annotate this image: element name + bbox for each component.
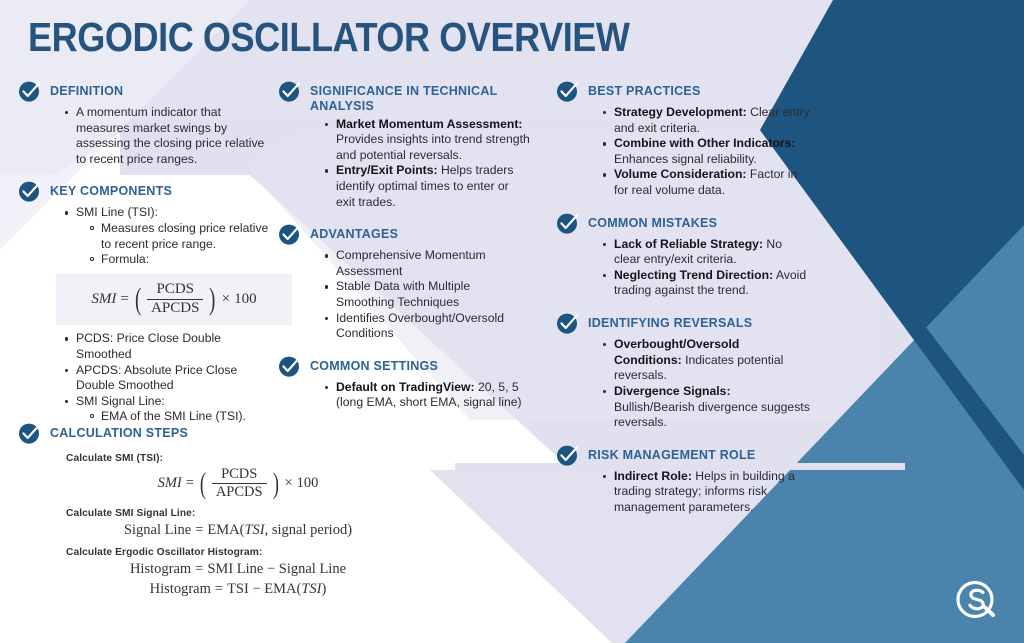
formula-rhs: SMI Line − Signal Line (207, 561, 346, 578)
formula-rhs: EMA(TSI, signal period) (207, 522, 352, 539)
formula-rhs: TSI − EMA(TSI) (227, 581, 326, 598)
list-item: Overbought/Oversold Conditions: Indicate… (603, 337, 810, 384)
list-item: Strategy Development: Clear entry and ex… (603, 105, 810, 136)
formula-fraction: PCDSAPCDS (212, 467, 267, 500)
formula-lhs: Histogram (130, 561, 191, 578)
section-header: RISK MANAGEMENT ROLE (556, 446, 810, 467)
list-item-text: SMI Signal Line: (76, 394, 165, 408)
check-circle-icon (556, 79, 580, 103)
section-header: BEST PRACTICES (556, 82, 810, 103)
list-item: Entry/Exit Points: Helps traders identif… (325, 163, 530, 210)
sub-list-item: EMA of the SMI Line (TSI). (90, 409, 276, 425)
content-block: COMMON SETTINGSDefault on TradingView: 2… (278, 357, 530, 411)
section-body: Overbought/Oversold Conditions: Indicate… (588, 337, 810, 431)
column-middle: SIGNIFICANCE IN TECHNICAL ANALYSISMarket… (278, 82, 530, 411)
section-body: Market Momentum Assessment: Provides ins… (310, 117, 530, 211)
paren-close: ) (209, 290, 215, 309)
list-item: Divergence Signals: Bullish/Bearish dive… (603, 384, 810, 431)
column-left: DEFINITIONA momentum indicator that meas… (18, 82, 276, 425)
list-item-text: A momentum indicator that measures marke… (76, 105, 264, 166)
list-item: APCDS: Absolute Price Close Double Smoot… (65, 363, 276, 394)
sub-list-item: Measures closing price relative to recen… (90, 221, 276, 252)
formula-equals: = (195, 522, 203, 539)
calc-step-formula: Histogram=TSI − EMA(TSI) (18, 581, 458, 598)
sq-monogram-logo (952, 577, 1002, 627)
formula-equals: = (195, 561, 203, 578)
list-item-lead: Divergence Signals: (614, 384, 731, 398)
list-item-lead: Volume Consideration: (614, 167, 747, 181)
formula-factor: 100 (234, 291, 257, 308)
list-item: Neglecting Trend Direction: Avoid tradin… (603, 268, 810, 299)
paren-close: ) (272, 475, 278, 493)
section-title: CALCULATION STEPS (50, 424, 188, 441)
section-title: DEFINITION (50, 82, 123, 99)
list-item-text: Provides insights into trend strength an… (336, 132, 530, 162)
formula-smi: SMI=(PCDSAPCDS)×100 (18, 467, 458, 500)
section-body: Default on TradingView: 20, 5, 5 (long E… (310, 380, 530, 411)
bullet-list: A momentum indicator that measures marke… (50, 105, 276, 167)
formula-lhs: SMI (91, 291, 116, 308)
list-item-text: Enhances signal reliability. (614, 152, 757, 166)
bullet-list: Default on TradingView: 20, 5, 5 (long E… (310, 380, 530, 411)
list-item-lead: Lack of Reliable Strategy: (614, 237, 763, 251)
section-header: CALCULATION STEPS (18, 424, 458, 445)
check-circle-icon (556, 211, 580, 235)
check-circle-icon (278, 79, 302, 103)
calc-step-formula: Histogram=SMI Line − Signal Line (18, 561, 458, 578)
list-item: Combine with Other Indicators: Enhances … (603, 136, 810, 167)
calc-step-label: Calculate SMI Signal Line: (66, 508, 458, 519)
bullet-list: SMI Line (TSI):Measures closing price re… (50, 205, 276, 267)
section-title: ADVANTAGES (310, 225, 398, 242)
bullet-list: Market Momentum Assessment: Provides ins… (310, 117, 530, 211)
infographic-poster: ERGODIC OSCILLATOR OVERVIEW DEFINITIONA … (0, 0, 1024, 643)
list-item: Volume Consideration: Factor in for real… (603, 167, 810, 198)
content-block: RISK MANAGEMENT ROLEIndirect Role: Helps… (556, 446, 810, 516)
content-block: SIGNIFICANCE IN TECHNICAL ANALYSISMarket… (278, 82, 530, 210)
section-title: COMMON MISTAKES (588, 214, 717, 231)
list-item: Market Momentum Assessment: Provides ins… (325, 117, 530, 164)
check-circle-icon (18, 79, 42, 103)
check-circle-icon (18, 421, 42, 445)
fraction-denominator: APCDS (212, 483, 267, 500)
formula-lhs: Signal Line (124, 522, 191, 539)
formula-equals: = (186, 475, 194, 492)
sub-list: Measures closing price relative to recen… (76, 221, 276, 268)
fraction-denominator: APCDS (147, 299, 203, 317)
bullet-list: Strategy Development: Clear entry and ex… (588, 105, 810, 199)
bullet-list: Comprehensive Momentum AssessmentStable … (310, 248, 530, 342)
calc-step-label: Calculate Ergodic Oscillator Histogram: (66, 547, 458, 558)
section-header: KEY COMPONENTS (18, 182, 276, 203)
fraction-numerator: PCDS (217, 467, 261, 483)
sub-list-item: Formula: (90, 252, 276, 268)
content-block: IDENTIFYING REVERSALSOverbought/Oversold… (556, 314, 810, 431)
list-item: Identifies Overbought/Oversold Condition… (325, 311, 530, 342)
page-title: ERGODIC OSCILLATOR OVERVIEW (28, 14, 630, 61)
section-title: COMMON SETTINGS (310, 357, 438, 374)
calc-step-formula: Signal Line=EMA(TSI, signal period) (18, 522, 458, 539)
section-body: Indirect Role: Helps in building a tradi… (588, 469, 810, 516)
content-block: KEY COMPONENTSSMI Line (TSI):Measures cl… (18, 182, 276, 425)
list-item-text: PCDS: Price Close Double Smoothed (76, 331, 221, 361)
list-item-text: Comprehensive Momentum Assessment (336, 248, 486, 278)
list-item: SMI Signal Line:EMA of the SMI Line (TSI… (65, 394, 276, 425)
list-item-lead: Strategy Development: (614, 105, 747, 119)
formula-fraction: PCDSAPCDS (147, 282, 203, 317)
section-title: RISK MANAGEMENT ROLE (588, 446, 756, 463)
list-item-text: Stable Data with Multiple Smoothing Tech… (336, 279, 470, 309)
bullet-list: Lack of Reliable Strategy: No clear entr… (588, 237, 810, 299)
paren-open: ( (200, 475, 206, 493)
check-circle-icon (278, 354, 302, 378)
bullet-list: PCDS: Price Close Double SmoothedAPCDS: … (50, 331, 276, 425)
content-block: ADVANTAGESComprehensive Momentum Assessm… (278, 225, 530, 342)
fraction-numerator: PCDS (152, 282, 198, 299)
section-title: BEST PRACTICES (588, 82, 701, 99)
bullet-list: Indirect Role: Helps in building a tradi… (588, 469, 810, 516)
section-body: Lack of Reliable Strategy: No clear entr… (588, 237, 810, 299)
list-item: SMI Line (TSI):Measures closing price re… (65, 205, 276, 267)
formula-smi: SMI=(PCDSAPCDS)×100 (62, 282, 286, 317)
section-body: Strategy Development: Clear entry and ex… (588, 105, 810, 199)
list-item: Stable Data with Multiple Smoothing Tech… (325, 279, 530, 310)
list-item-lead: Indirect Role: (614, 469, 692, 483)
list-item-lead: Market Momentum Assessment: (336, 117, 522, 131)
content-block: BEST PRACTICESStrategy Development: Clea… (556, 82, 810, 199)
list-item: Comprehensive Momentum Assessment (325, 248, 530, 279)
list-item-lead: Combine with Other Indicators: (614, 136, 795, 150)
section-header: COMMON MISTAKES (556, 214, 810, 235)
check-circle-icon (556, 311, 580, 335)
list-item-lead: Neglecting Trend Direction: (614, 268, 773, 282)
section-header: ADVANTAGES (278, 225, 530, 246)
list-item-text: SMI Line (TSI): (76, 205, 158, 219)
section-title: KEY COMPONENTS (50, 182, 172, 199)
content-block: DEFINITIONA momentum indicator that meas… (18, 82, 276, 167)
check-circle-icon (278, 222, 302, 246)
calculation-body: Calculate SMI (TSI):SMI=(PCDSAPCDS)×100C… (18, 453, 458, 598)
formula-lhs: Histogram (150, 581, 211, 598)
check-circle-icon (18, 179, 42, 203)
paren-open: ( (135, 290, 141, 309)
formula-equals: = (120, 291, 128, 308)
column-right: BEST PRACTICESStrategy Development: Clea… (556, 82, 810, 516)
section-body: Comprehensive Momentum AssessmentStable … (310, 248, 530, 342)
section-title: SIGNIFICANCE IN TECHNICAL ANALYSIS (310, 82, 530, 115)
list-item-lead: Default on TradingView: (336, 380, 475, 394)
list-item-text: Identifies Overbought/Oversold Condition… (336, 311, 504, 341)
section-body: SMI Line (TSI):Measures closing price re… (50, 205, 276, 425)
list-item: PCDS: Price Close Double Smoothed (65, 331, 276, 362)
formula-factor: 100 (297, 475, 319, 492)
check-circle-icon (556, 443, 580, 467)
list-item-text: Bullish/Bearish divergence suggests reve… (614, 400, 810, 430)
section-header: DEFINITION (18, 82, 276, 103)
section-header: COMMON SETTINGS (278, 357, 530, 378)
formula-times: × (284, 475, 292, 492)
calc-step-label: Calculate SMI (TSI): (66, 453, 458, 464)
bullet-list: Overbought/Oversold Conditions: Indicate… (588, 337, 810, 431)
list-item: Indirect Role: Helps in building a tradi… (603, 469, 810, 516)
content-block: COMMON MISTAKESLack of Reliable Strategy… (556, 214, 810, 299)
section-header: SIGNIFICANCE IN TECHNICAL ANALYSIS (278, 82, 530, 115)
formula-lhs: SMI (158, 475, 182, 492)
formula-times: × (222, 291, 230, 308)
list-item: Lack of Reliable Strategy: No clear entr… (603, 237, 810, 268)
section-title: IDENTIFYING REVERSALS (588, 314, 752, 331)
formula-equals: = (215, 581, 223, 598)
calculation-steps-section: CALCULATION STEPS Calculate SMI (TSI):SM… (18, 424, 458, 601)
list-item-text: APCDS: Absolute Price Close Double Smoot… (76, 363, 237, 393)
section-header: IDENTIFYING REVERSALS (556, 314, 810, 335)
section-body: A momentum indicator that measures marke… (50, 105, 276, 167)
sub-list: EMA of the SMI Line (TSI). (76, 409, 276, 425)
list-item: A momentum indicator that measures marke… (65, 105, 276, 167)
list-item: Default on TradingView: 20, 5, 5 (long E… (325, 380, 530, 411)
formula-box: SMI=(PCDSAPCDS)×100 (56, 274, 292, 326)
list-item-lead: Entry/Exit Points: (336, 163, 438, 177)
